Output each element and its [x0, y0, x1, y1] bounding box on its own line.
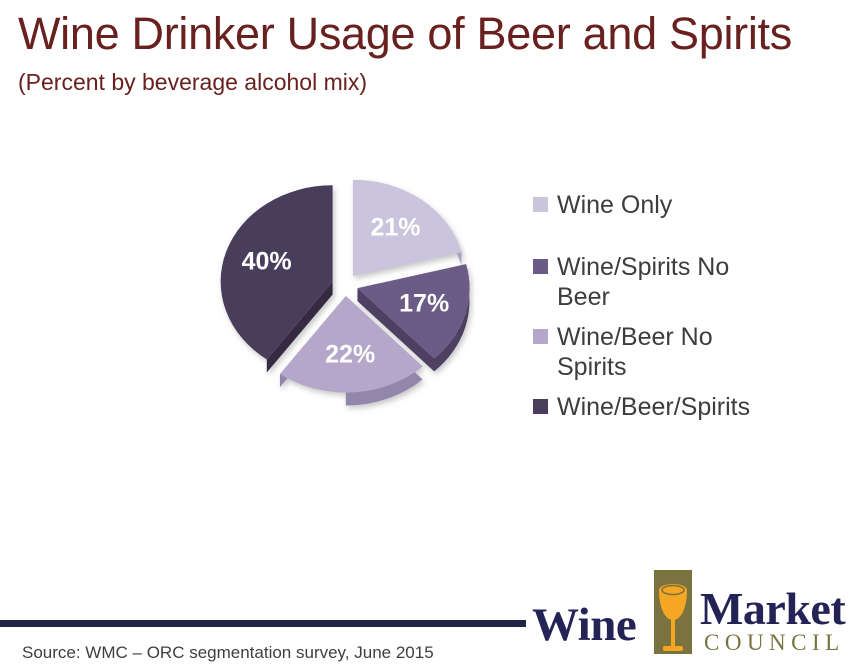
legend-item-wine-spirits-no-beer[interactable]: Wine/Spirits No Beer — [533, 252, 833, 312]
pie-slice-wine-beer-no-spirits-label: 22% — [325, 340, 375, 368]
wine-glass-icon-svg — [654, 570, 692, 654]
logo-word-council: COUNCIL — [704, 630, 845, 656]
legend-item-label: Wine/Spirits No Beer — [557, 252, 772, 312]
pie-slice-wine-spirits-no-beer-label: 17% — [399, 289, 449, 317]
footer-divider — [0, 620, 526, 627]
legend-swatch-icon — [533, 399, 548, 414]
source-note: Source: WMC – ORC segmentation survey, J… — [22, 643, 434, 663]
legend-swatch-icon — [533, 329, 548, 344]
page-title: Wine Drinker Usage of Beer and Spirits — [18, 8, 838, 60]
chart-legend: Wine Only Wine/Spirits No Beer Wine/Beer… — [533, 190, 833, 436]
pie-chart-svg: 21% 17% 22% 40% — [180, 140, 510, 440]
legend-swatch-icon — [533, 259, 548, 274]
pie-chart: 21% 17% 22% 40% — [180, 140, 510, 440]
pie-slice-wine-only-label: 21% — [371, 214, 421, 242]
legend-item-label: Wine Only — [557, 190, 672, 220]
legend-swatch-icon — [533, 197, 548, 212]
legend-item-wine-beer-spirits[interactable]: Wine/Beer/Spirits — [533, 392, 833, 422]
legend-item-label: Wine/Beer/Spirits — [557, 392, 750, 422]
logo-word-market: Market — [700, 582, 845, 635]
title-block: Wine Drinker Usage of Beer and Spirits (… — [18, 8, 838, 96]
wine-market-council-logo: Wine Market COUNCIL — [524, 568, 857, 663]
pie-slice-wine-beer-spirits-label: 40% — [242, 248, 292, 276]
page-subtitle: (Percent by beverage alcohol mix) — [18, 69, 838, 96]
pie-slice-wine-only[interactable]: 21% — [353, 180, 461, 276]
legend-item-wine-only[interactable]: Wine Only — [533, 190, 833, 220]
legend-item-wine-beer-no-spirits[interactable]: Wine/Beer No Spirits — [533, 322, 833, 382]
logo-word-wine: Wine — [532, 598, 636, 652]
wine-glass-icon — [654, 570, 692, 654]
legend-item-label: Wine/Beer No Spirits — [557, 322, 772, 382]
